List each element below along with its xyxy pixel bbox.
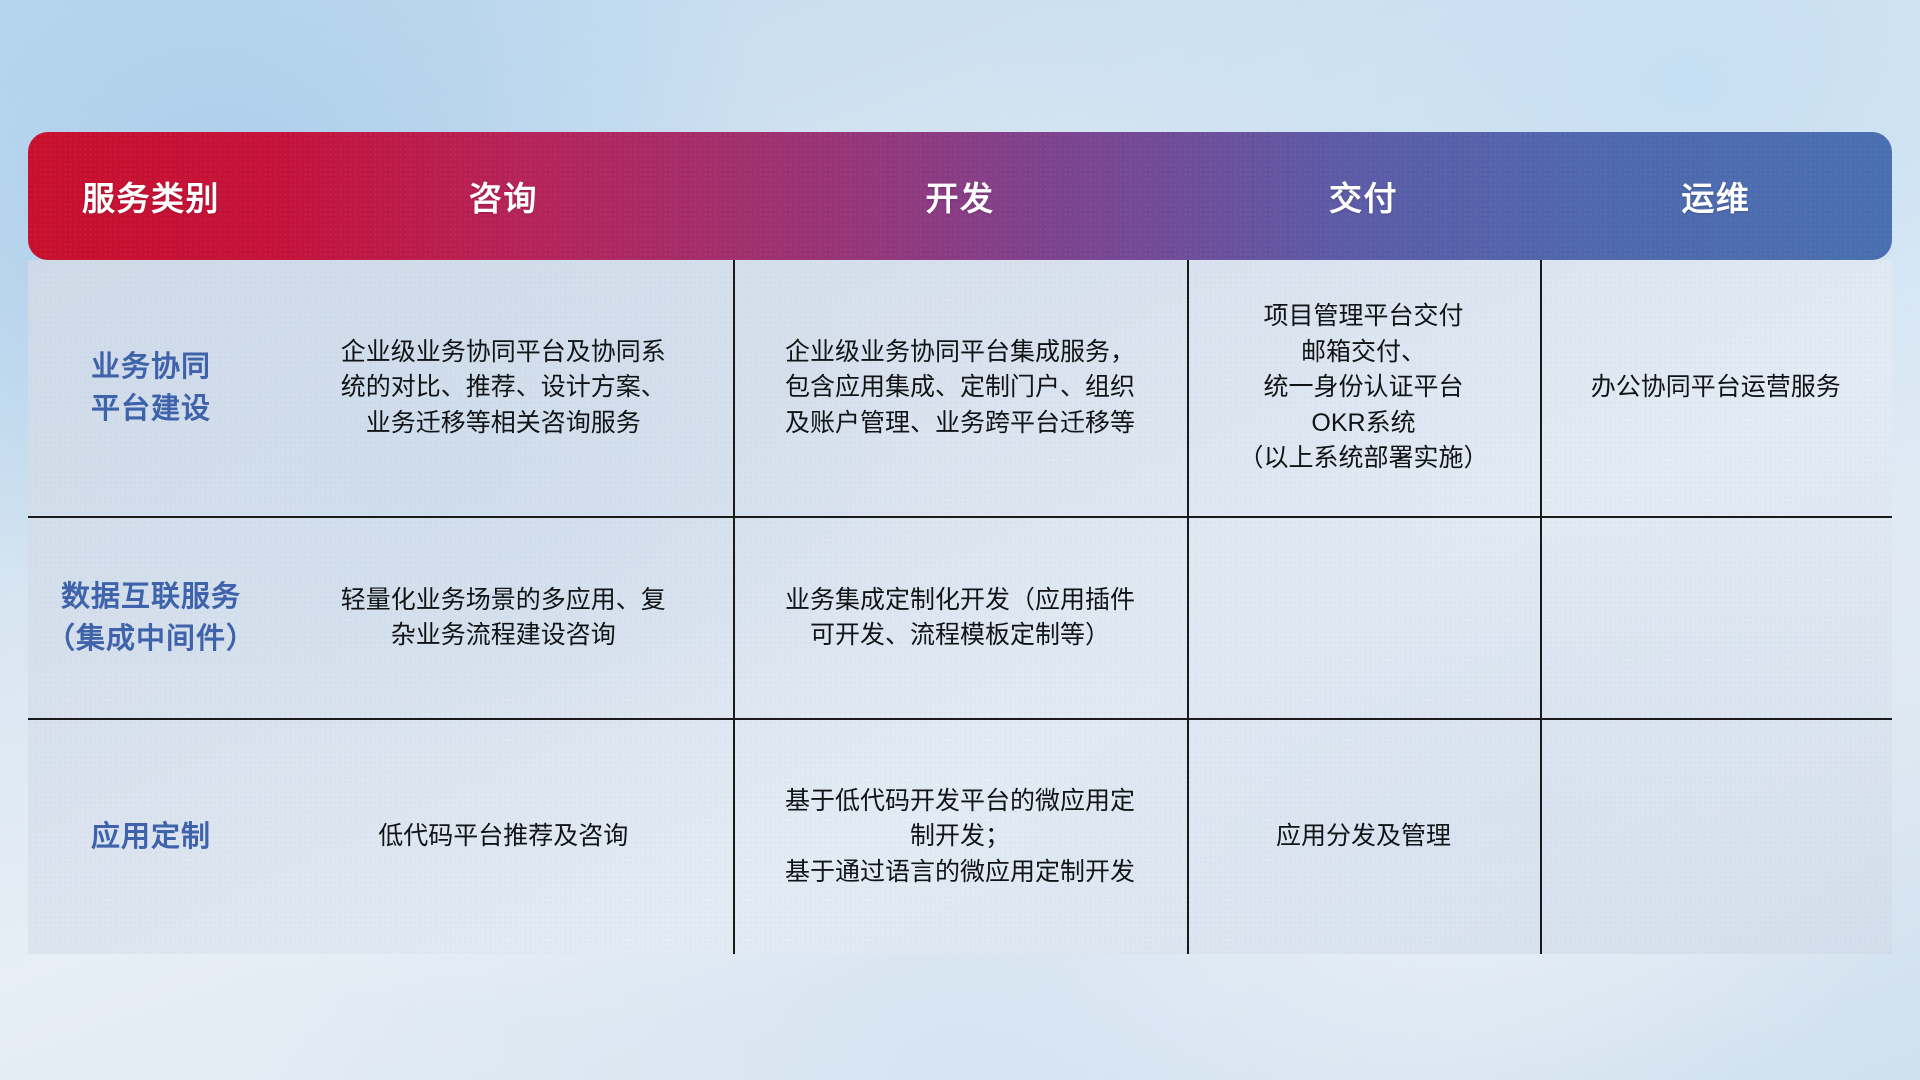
column-header-category: 服务类别	[28, 172, 274, 220]
cell-operations	[1540, 518, 1892, 718]
cell-development: 业务集成定制化开发（应用插件 可开发、流程模板定制等）	[733, 518, 1188, 718]
cell-operations	[1540, 720, 1892, 954]
cell-delivery: 项目管理平台交付 邮箱交付、 统一身份认证平台 OKR系统 （以上系统部署实施）	[1187, 260, 1539, 516]
cell-consulting: 企业级业务协同平台及协同系 统的对比、推荐、设计方案、 业务迁移等相关咨询服务	[274, 260, 733, 516]
row-category-label: 数据互联服务 （集成中间件）	[28, 518, 274, 718]
table-header-row: 服务类别 咨询 开发 交付 运维	[28, 132, 1892, 260]
cell-operations: 办公协同平台运营服务	[1540, 260, 1892, 516]
column-header-development: 开发	[733, 172, 1188, 220]
services-matrix-table: 服务类别 咨询 开发 交付 运维 业务协同 平台建设 企业级业务协同平台及协同系…	[28, 132, 1892, 954]
cell-development: 基于低代码开发平台的微应用定 制开发； 基于通过语言的微应用定制开发	[733, 720, 1188, 954]
column-header-delivery: 交付	[1187, 172, 1539, 220]
cell-development: 企业级业务协同平台集成服务， 包含应用集成、定制门户、组织 及账户管理、业务跨平…	[733, 260, 1188, 516]
cell-consulting: 低代码平台推荐及咨询	[274, 720, 733, 954]
column-header-operations: 运维	[1540, 172, 1892, 220]
cell-delivery	[1187, 518, 1539, 718]
table-row: 应用定制 低代码平台推荐及咨询 基于低代码开发平台的微应用定 制开发； 基于通过…	[28, 720, 1892, 954]
table-row: 数据互联服务 （集成中间件） 轻量化业务场景的多应用、复 杂业务流程建设咨询 业…	[28, 518, 1892, 720]
cell-consulting: 轻量化业务场景的多应用、复 杂业务流程建设咨询	[274, 518, 733, 718]
table-body: 业务协同 平台建设 企业级业务协同平台及协同系 统的对比、推荐、设计方案、 业务…	[28, 260, 1892, 954]
table-row: 业务协同 平台建设 企业级业务协同平台及协同系 统的对比、推荐、设计方案、 业务…	[28, 260, 1892, 518]
column-header-consulting: 咨询	[274, 172, 733, 220]
row-category-label: 业务协同 平台建设	[28, 260, 274, 516]
cell-delivery: 应用分发及管理	[1187, 720, 1539, 954]
row-category-label: 应用定制	[28, 720, 274, 954]
